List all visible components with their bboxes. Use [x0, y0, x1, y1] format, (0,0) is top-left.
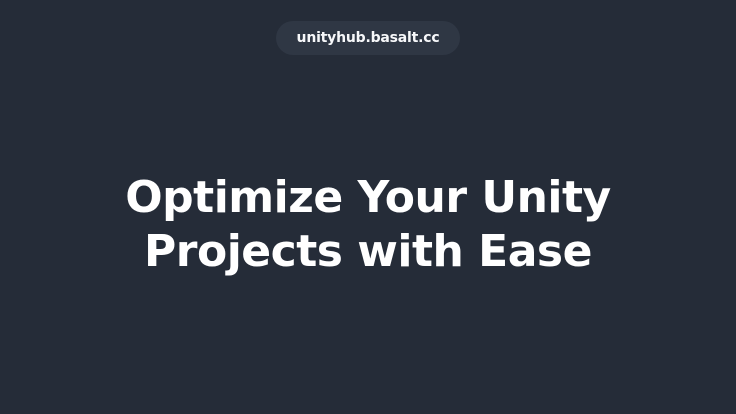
url-badge-label: unityhub.basalt.cc	[297, 31, 440, 45]
url-badge[interactable]: unityhub.basalt.cc	[276, 21, 461, 55]
landing-page-root: unityhub.basalt.cc Optimize Your Unity P…	[0, 0, 736, 414]
hero-heading-line-2: Projects with Ease	[0, 225, 736, 279]
url-badge-row: unityhub.basalt.cc	[0, 21, 736, 55]
hero-heading: Optimize Your Unity Projects with Ease	[0, 171, 736, 279]
hero-heading-line-1: Optimize Your Unity	[0, 171, 736, 225]
